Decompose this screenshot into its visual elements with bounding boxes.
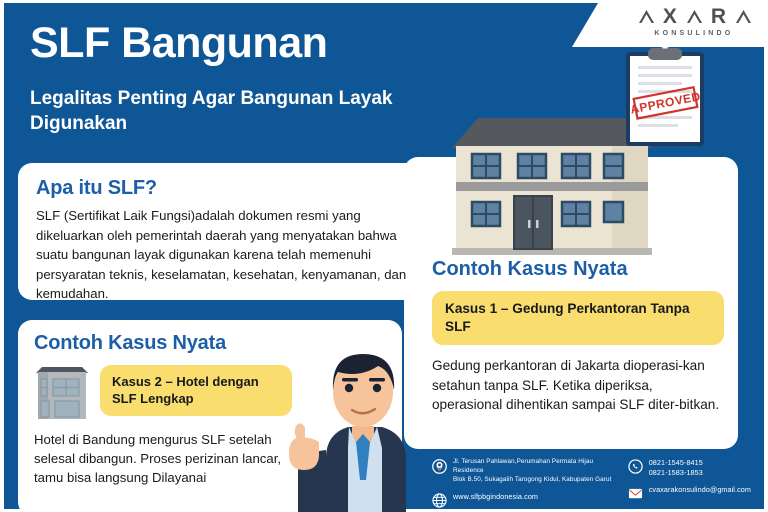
card-kasus1-body: Gedung perkantoran di Jakarta dioperasi-…	[432, 356, 724, 415]
footer-left-column: Jl. Terusan Pahlawan,Perumahan Permata H…	[432, 458, 614, 506]
card-kasus2-body: Hotel di Bandung mengurus SLF setelah se…	[34, 430, 284, 487]
clipboard-approved-illustration: APPROVED	[620, 40, 710, 150]
footer-phone-text: 0821-1545-8415 0821-1583-1853	[649, 458, 703, 478]
card-kasus1-title: Contoh Kasus Nyata	[432, 258, 724, 281]
chevron-a3-icon	[735, 9, 752, 24]
logo-mark: X R	[638, 6, 752, 27]
businessman-thumbs-up-illustration	[286, 330, 436, 512]
phone-2: 0821-1583-1853	[649, 468, 703, 478]
kasus1-badge: Kasus 1 – Gedung Perkantoran Tanpa SLF	[432, 291, 724, 345]
footer-phone-row[interactable]: 0821-1545-8415 0821-1583-1853	[628, 458, 752, 478]
card-apa-title: Apa itu SLF?	[36, 177, 408, 200]
footer-email-text: cvaxarakonsulindo@gmail.com	[649, 485, 751, 495]
kasus2-badge: Kasus 2 – Hotel dengan SLF Lengkap	[100, 365, 292, 416]
chevron-a2-icon	[686, 9, 703, 24]
logo-subtitle: KONSULINDO	[638, 30, 752, 37]
page-subtitle: Legalitas Penting Agar Bangunan Layak Di…	[30, 86, 460, 136]
infographic-poster: X R KONSULINDO SLF Bangunan Legalitas Pe…	[0, 0, 768, 512]
footer-website-row[interactable]: www.slfpbgindonesia.com	[432, 492, 614, 508]
card-apa-body: SLF (Sertifikat Laik Fungsi)adalah dokum…	[36, 206, 408, 304]
footer-website-text: www.slfpbgindonesia.com	[453, 492, 538, 502]
address-line-1: Jl. Terusan Pahlawan,Perumahan Permata H…	[453, 458, 614, 476]
whatsapp-icon	[628, 459, 643, 474]
card-apa-itu-slf: Apa itu SLF? SLF (Sertifikat Laik Fungsi…	[18, 163, 426, 300]
page-title: SLF Bangunan	[30, 22, 327, 65]
address-line-2: Blok B.50, Sukagalih Tarogong Kidul, Kab…	[453, 476, 614, 485]
footer-right-column: 0821-1545-8415 0821-1583-1853 cvaxarakon…	[628, 458, 752, 506]
footer-email-row[interactable]: cvaxarakonsulindo@gmail.com	[628, 485, 752, 501]
brand-logo: X R KONSULINDO	[638, 6, 752, 37]
location-pin-icon	[432, 459, 447, 474]
logo-text-r: R	[711, 6, 727, 27]
email-icon	[628, 486, 643, 501]
chevron-a-icon	[638, 9, 655, 24]
hotel-building-icon	[34, 363, 90, 421]
card-kasus-1: Contoh Kasus Nyata Kasus 1 – Gedung Perk…	[432, 258, 724, 415]
footer-contact-bar: Jl. Terusan Pahlawan,Perumahan Permata H…	[432, 458, 752, 506]
footer-address-row: Jl. Terusan Pahlawan,Perumahan Permata H…	[432, 458, 614, 485]
logo-text-x: X	[663, 6, 678, 27]
footer-address-text: Jl. Terusan Pahlawan,Perumahan Permata H…	[453, 458, 614, 485]
phone-1: 0821-1545-8415	[649, 458, 703, 468]
globe-icon	[432, 493, 447, 508]
